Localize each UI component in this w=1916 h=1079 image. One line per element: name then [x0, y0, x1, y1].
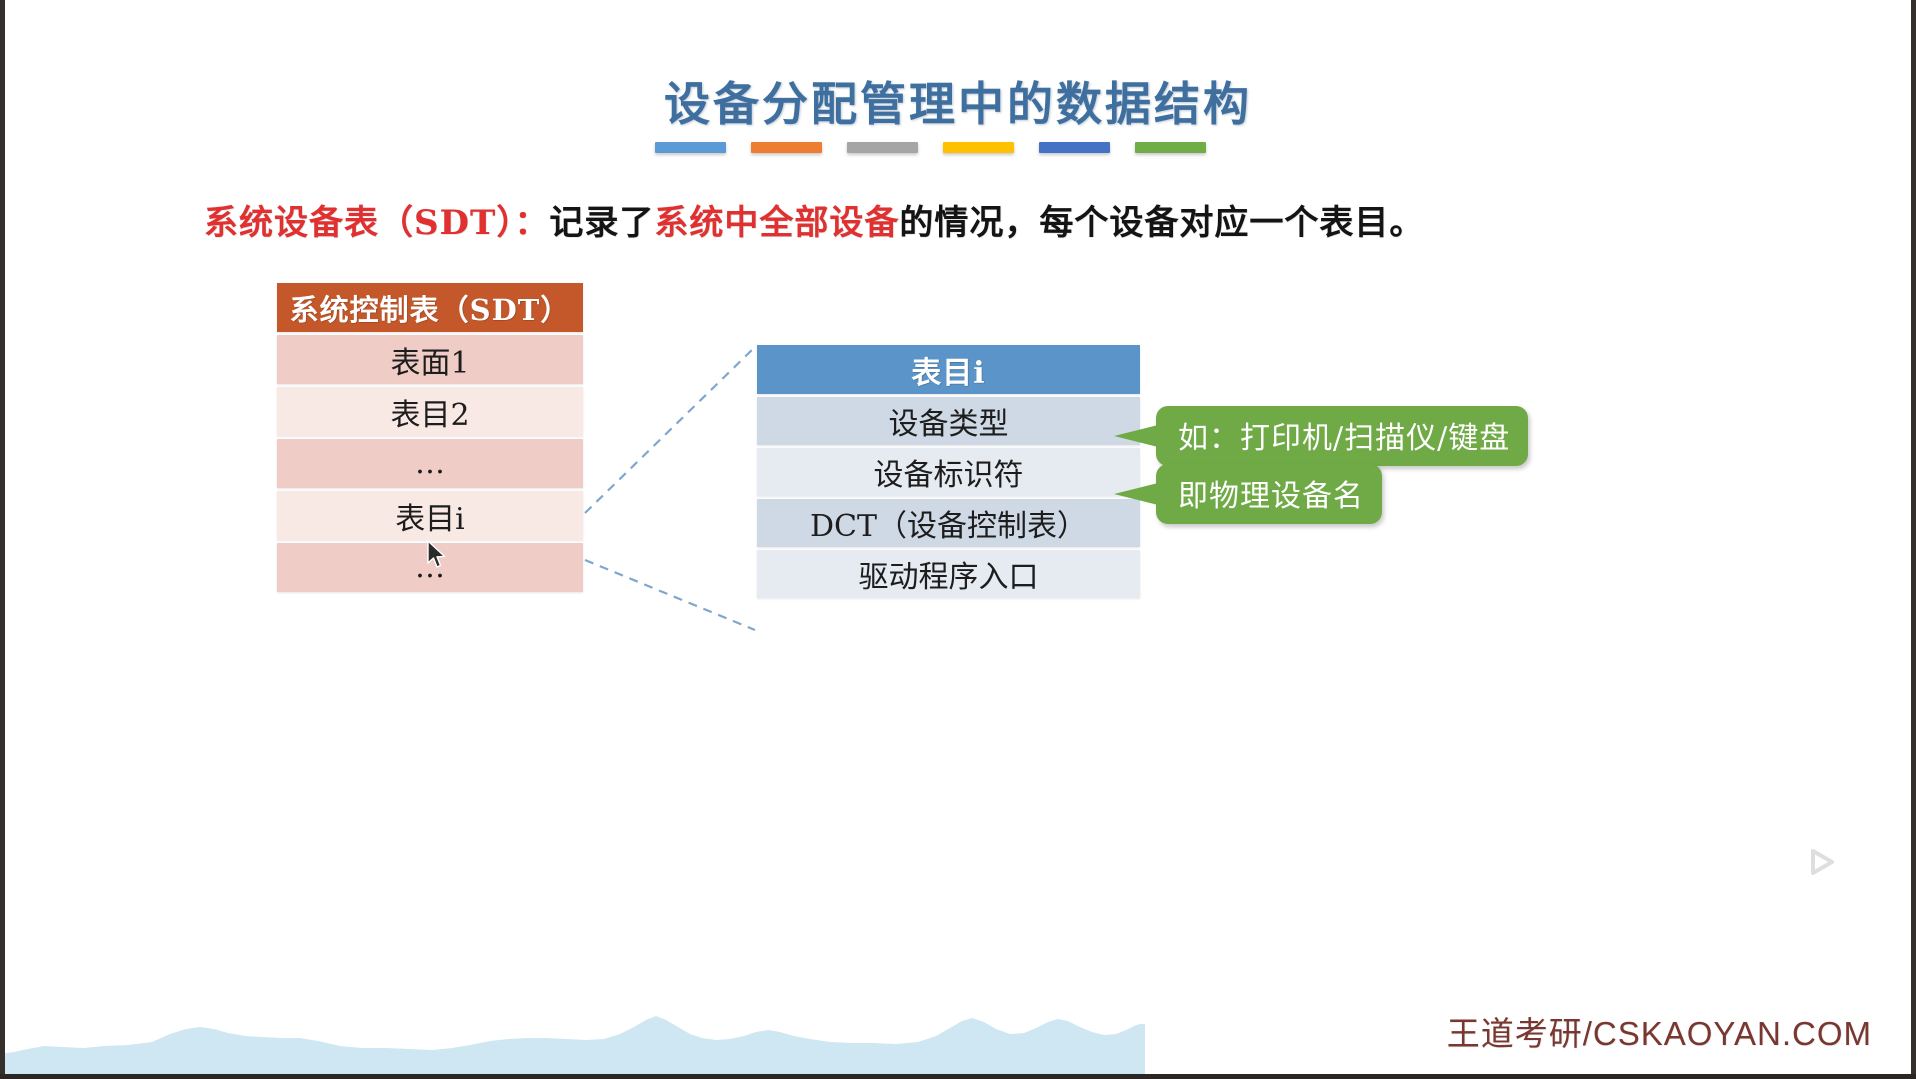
- accent-bar-1: [655, 142, 726, 153]
- subtitle-text-1: 记录了: [549, 203, 654, 243]
- sdt-table-header: 系统控制表（SDT）: [277, 283, 583, 332]
- left-letterbox-edge: [0, 0, 5, 1079]
- entry-row-dct[interactable]: DCT（设备控制表）: [757, 499, 1140, 547]
- accent-bar-4: [943, 142, 1014, 153]
- footer-brand: 王道考研/CSKAOYAN.COM: [1447, 1007, 1872, 1055]
- page-title: 设备分配管理中的数据结构: [0, 68, 1916, 134]
- accent-bar-2: [751, 142, 822, 153]
- sdt-row-1[interactable]: 表面1: [277, 335, 583, 384]
- right-letterbox-edge: [1911, 0, 1916, 1079]
- callout-device-id: 即物理设备名: [1156, 464, 1382, 524]
- entry-row-device-id[interactable]: 设备标识符: [757, 448, 1140, 496]
- device-entry-table: 表目i 设备类型 设备标识符 DCT（设备控制表） 驱动程序入口: [757, 345, 1140, 598]
- accent-bar-6: [1135, 142, 1206, 153]
- bottom-letterbox-edge: [0, 1074, 1916, 1079]
- sdt-row-4-selected[interactable]: 表目i: [277, 491, 583, 540]
- bilibili-tv-play-icon[interactable]: [1784, 827, 1858, 893]
- subtitle-term: 系统设备表（SDT）：: [204, 203, 549, 243]
- sdt-row-3-ellipsis: …: [277, 439, 583, 488]
- sdt-row-5-ellipsis: …: [277, 543, 583, 592]
- entry-table-header: 表目i: [757, 345, 1140, 394]
- callout-device-type: 如：打印机/扫描仪/键盘: [1156, 406, 1528, 466]
- subtitle-line: 系统设备表（SDT）：记录了系统中全部设备的情况，每个设备对应一个表目。: [204, 195, 1424, 244]
- slide-canvas: 王道论坛 bilibili 设备分配管理中的数据结构 系统设备表（SDT）：记录…: [0, 0, 1916, 1079]
- subtitle-text-2: 的情况，每个设备对应一个表目。: [899, 203, 1424, 243]
- accent-bar-5: [1039, 142, 1110, 153]
- connector-line-top: [585, 347, 755, 513]
- system-device-table: 系统控制表（SDT） 表面1 表目2 … 表目i …: [277, 283, 583, 592]
- accent-bar-3: [847, 142, 918, 153]
- title-accent-bars: [655, 142, 1206, 153]
- connector-line-bottom: [585, 560, 755, 630]
- sdt-row-2[interactable]: 表目2: [277, 387, 583, 436]
- entry-row-device-type[interactable]: 设备类型: [757, 397, 1140, 445]
- entry-row-driver-entry[interactable]: 驱动程序入口: [757, 550, 1140, 598]
- audio-waveform: [0, 1002, 1145, 1074]
- subtitle-emphasis: 系统中全部设备: [654, 203, 899, 243]
